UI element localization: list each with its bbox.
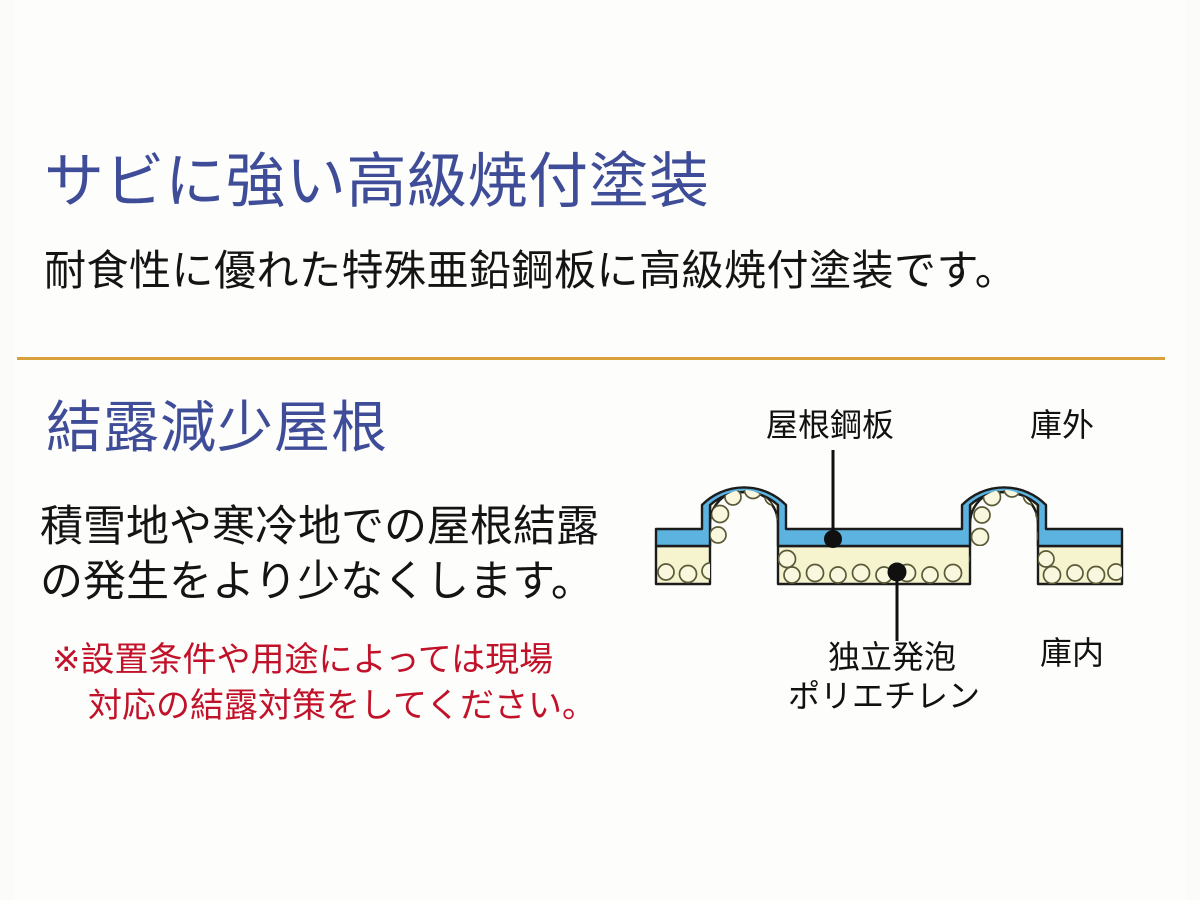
section-divider	[17, 357, 1165, 360]
section2-note-text: ※設置条件や用途によっては現場 対応の結露対策をしてください。	[52, 638, 596, 730]
section2-heading: 結露減少屋根	[46, 400, 388, 456]
section1-heading: サビに強い高級焼付塗装	[44, 152, 710, 212]
leader-line-roof-steel	[824, 450, 842, 548]
section2-body-line-1: 積雪地や寒冷地での屋根結露	[40, 500, 599, 555]
diagram-label-foam: 独立発泡 ポリエチレン	[804, 638, 980, 716]
leader-line-foam	[888, 563, 907, 642]
section2-body-line-2: の発生をより少なくします。	[40, 555, 599, 610]
diagram-label-inside: 庫内	[1040, 634, 1104, 673]
diagram-label-outside: 庫外	[1030, 406, 1094, 445]
diagram-label-roof-steel: 屋根鋼板	[766, 406, 894, 445]
section2-note-line-1: ※設置条件や用途によっては現場	[52, 641, 553, 679]
roof-cross-section-diagram: 屋根鋼板 庫外 庫内 独立発泡 ポリエチレン	[640, 398, 1160, 763]
diagram-label-foam-line-2: ポリエチレン	[788, 677, 980, 716]
section2-note-line-2: 対応の結露対策をしてください。	[52, 684, 596, 730]
section1-body-text: 耐食性に優れた特殊亜鉛鋼板に高級焼付塗装です。	[44, 248, 1017, 294]
slide-canvas: サビに強い高級焼付塗装 耐食性に優れた特殊亜鉛鋼板に高級焼付塗装です。 結露減少…	[0, 0, 1200, 900]
diagram-label-foam-line-1: 独立発泡	[804, 638, 980, 677]
section2-body-text: 積雪地や寒冷地での屋根結露 の発生をより少なくします。	[40, 500, 599, 610]
